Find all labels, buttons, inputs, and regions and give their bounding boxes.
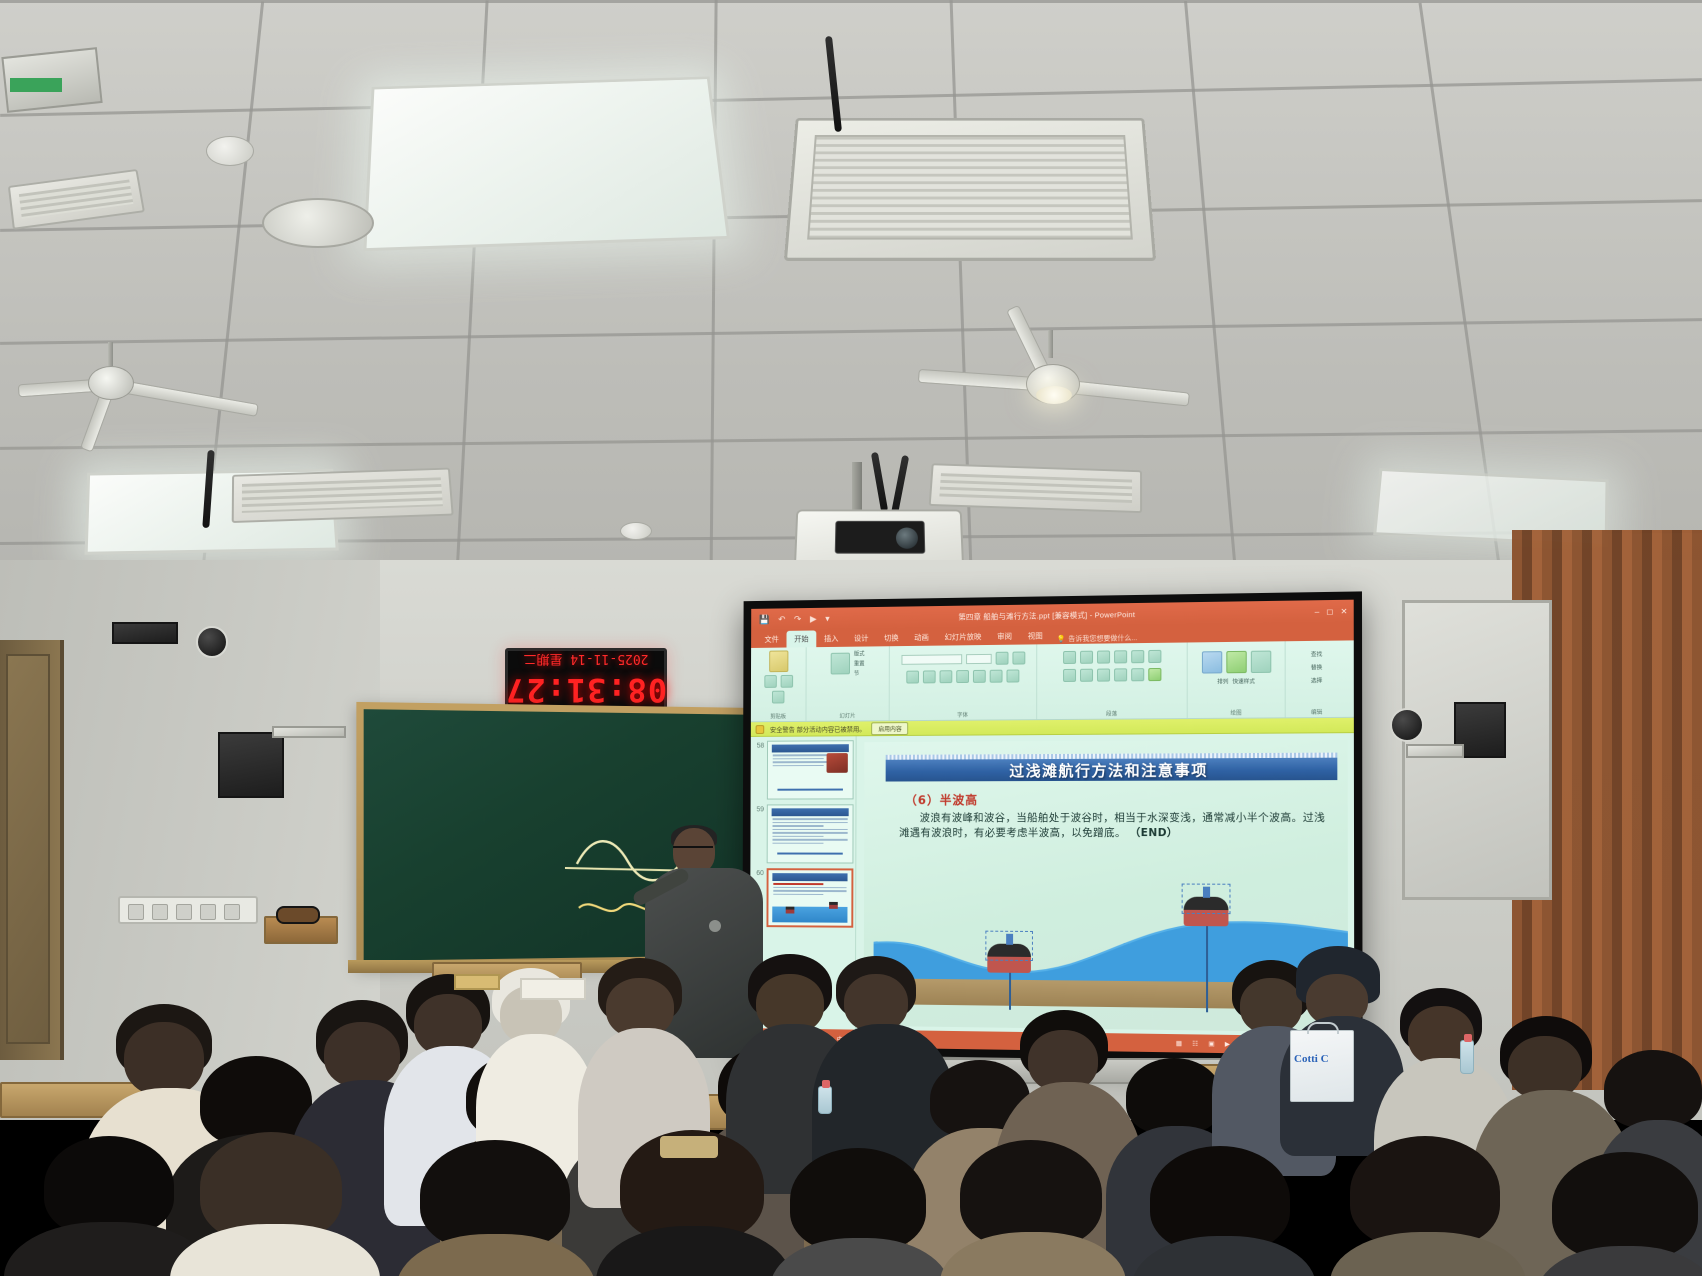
line-spacing-icon[interactable]	[1131, 650, 1144, 663]
align-left-icon[interactable]	[1063, 669, 1076, 682]
paper-on-desk	[520, 978, 586, 1000]
ribbon-group-slides[interactable]: 版式 重置 节 幻灯片	[806, 646, 889, 721]
underline-icon[interactable]	[940, 670, 953, 683]
tab-review[interactable]: 审阅	[989, 628, 1020, 645]
minimize-icon[interactable]: –	[1315, 607, 1320, 616]
speaker-bracket-left	[272, 726, 346, 738]
depth-line-crest	[1206, 921, 1208, 1012]
slide-body-sentence: 波浪有波峰和波谷，当船舶处于波谷时，相当于水深变浅，通常减小半个波高。过浅滩遇有…	[899, 812, 1325, 840]
arrange-label[interactable]: 排列	[1217, 677, 1228, 685]
group-label-editing: 编辑	[1286, 708, 1348, 717]
fan-light	[1036, 386, 1072, 404]
layout-label[interactable]: 版式	[854, 649, 865, 657]
restore-icon[interactable]: ◻	[1326, 607, 1333, 616]
bag-label: Cotti C	[1294, 1053, 1329, 1065]
thumbnail-wave-graphic	[772, 907, 847, 923]
tab-animations[interactable]: 动画	[906, 629, 936, 646]
group-label-clipboard: 剪贴板	[751, 712, 806, 720]
lightbulb-icon: 💡	[1057, 635, 1066, 643]
close-icon[interactable]: ✕	[1341, 606, 1348, 615]
font-name-box[interactable]	[901, 654, 962, 665]
copy-icon[interactable]	[780, 675, 793, 688]
title-hatch-decor	[886, 753, 1338, 760]
ceiling-device-label	[10, 78, 62, 92]
justify-icon[interactable]	[1114, 668, 1127, 681]
tab-file[interactable]: 文件	[757, 631, 787, 648]
speaker-bracket-right	[1406, 744, 1464, 758]
projector-lens	[896, 528, 918, 549]
ribbon-group-paragraph[interactable]: 段落	[1037, 642, 1188, 719]
bag-handle	[1307, 1022, 1339, 1034]
wall-speaker-left	[218, 732, 284, 798]
tab-home[interactable]: 开始	[786, 630, 816, 647]
tab-transitions[interactable]: 切换	[876, 629, 906, 646]
ac-vent-right	[929, 463, 1142, 513]
door-frame[interactable]	[0, 640, 64, 1060]
ceiling-camera-right	[1390, 708, 1424, 742]
door-panel[interactable]	[6, 654, 50, 1044]
ceiling-fan-right	[900, 340, 1180, 450]
group-label-paragraph: 段落	[1037, 709, 1187, 718]
format-painter-icon[interactable]	[772, 691, 784, 704]
slide-end-marker: （END）	[1130, 827, 1178, 839]
slide-thumbnail-59[interactable]	[767, 804, 854, 863]
bold-icon[interactable]	[906, 671, 919, 684]
chalk-eraser	[276, 906, 320, 924]
book-on-desk	[454, 974, 500, 990]
slide-body-text: 波浪有波峰和波谷，当船舶处于波谷时，相当于水深变浅，通常减小半个波高。过浅滩遇有…	[899, 811, 1333, 842]
cut-icon[interactable]	[764, 675, 776, 688]
tab-slideshow[interactable]: 幻灯片放映	[937, 628, 990, 646]
depth-line-trough	[1009, 968, 1011, 1010]
convert-smartart-icon[interactable]	[1148, 668, 1161, 681]
ship-on-crest	[1184, 897, 1229, 927]
ribbon-group-editing[interactable]: 查找 替换 选择 编辑	[1286, 640, 1348, 717]
document-title: 第四章 船舶与滩行方法.ppt [兼容模式] - PowerPoint	[751, 605, 1354, 625]
wall-socket-strip[interactable]	[118, 896, 258, 924]
slide-subtitle: （6）半波高	[905, 791, 978, 808]
ship-in-trough	[987, 944, 1031, 973]
group-label-font: 字体	[890, 710, 1037, 719]
section-label[interactable]: 节	[854, 669, 865, 677]
teacher-glasses	[673, 846, 713, 853]
ac-vent-left	[232, 468, 454, 523]
ceiling-camera-left	[196, 626, 228, 658]
security-warning-text: 安全警告 部分活动内容已被禁用。	[770, 723, 866, 733]
window-buttons[interactable]: – ◻ ✕	[1315, 606, 1348, 616]
teacher-jacket-detail	[709, 920, 721, 932]
text-direction-icon[interactable]	[1148, 650, 1161, 663]
paste-icon[interactable]	[769, 650, 788, 672]
ceiling-speaker-1	[262, 198, 374, 248]
reading-view-icon[interactable]: ▣	[1208, 1040, 1214, 1048]
classroom-scene: 08:31:27 2025-11-14 星期二 💾 ↶ ↷ ▶ ▾	[0, 0, 1702, 1276]
smoke-detector-1	[206, 136, 254, 166]
change-case-icon[interactable]	[1006, 669, 1019, 682]
tab-design[interactable]: 设计	[846, 630, 876, 647]
ceiling	[0, 0, 1702, 620]
clock-date: 2025-11-14 星期二	[523, 652, 648, 671]
reset-label[interactable]: 重置	[854, 659, 865, 667]
columns-icon[interactable]	[1131, 668, 1144, 681]
italic-icon[interactable]	[923, 670, 936, 683]
slide-thumbnail-60[interactable]	[766, 868, 853, 928]
replace-label[interactable]: 替换	[1311, 663, 1322, 671]
select-label[interactable]: 选择	[1311, 676, 1322, 684]
increase-indent-icon[interactable]	[1114, 650, 1127, 663]
find-label[interactable]: 查找	[1311, 650, 1322, 658]
ceiling-fan-left	[30, 350, 260, 440]
clock-time: 08:31:27	[505, 675, 667, 707]
ceiling-light-panel-1	[363, 76, 730, 251]
ribbon-group-drawing[interactable]: 排列 快速样式 绘图	[1188, 641, 1286, 718]
shopping-bag: Cotti C	[1290, 1030, 1354, 1102]
shapes-icon[interactable]	[1201, 651, 1221, 673]
water-bottle	[1460, 1040, 1474, 1074]
thumbnail-row[interactable]: 60	[752, 868, 853, 928]
ribbon-group-clipboard[interactable]: 剪贴板	[751, 647, 807, 721]
arrange-icon[interactable]	[1226, 651, 1246, 673]
thumbnail-image	[827, 753, 848, 773]
ribbon-group-font[interactable]: 字体	[890, 644, 1038, 720]
thumbnail-row[interactable]: 58	[753, 740, 854, 799]
ribbon[interactable]: 剪贴板 版式 重置 节 幻灯片	[751, 640, 1354, 722]
water-bottle	[818, 1086, 832, 1114]
quick-style-label[interactable]: 快速样式	[1232, 677, 1254, 685]
warning-icon	[756, 725, 765, 734]
increase-font-icon[interactable]	[995, 652, 1008, 665]
tab-view[interactable]: 视图	[1020, 627, 1051, 644]
thumbnail-row[interactable]: 59	[752, 804, 853, 863]
align-center-icon[interactable]	[1080, 669, 1093, 682]
slide-thumbnail-58[interactable]	[767, 740, 854, 799]
enable-content-button[interactable]: 启用内容	[871, 722, 908, 735]
smoke-detector-2	[620, 522, 652, 540]
projector-mount	[852, 462, 862, 514]
new-slide-icon[interactable]	[831, 653, 850, 675]
group-label-slides: 幻灯片	[806, 711, 888, 720]
hair-clip	[660, 1136, 718, 1158]
decrease-font-icon[interactable]	[1012, 651, 1025, 664]
font-size-box[interactable]	[966, 653, 992, 663]
quick-styles-icon[interactable]	[1250, 651, 1270, 673]
led-wall-clock: 08:31:27 2025-11-14 星期二	[505, 648, 667, 710]
decrease-indent-icon[interactable]	[1097, 650, 1110, 663]
shadow-icon[interactable]	[973, 670, 986, 683]
strikethrough-icon[interactable]	[956, 670, 969, 683]
group-label-drawing: 绘图	[1188, 708, 1285, 717]
thumbnail-number: 58	[753, 741, 764, 750]
ac-vent-large	[784, 118, 1156, 261]
normal-view-icon[interactable]: ▦	[1176, 1039, 1182, 1047]
slide-title: 过浅滩航行方法和注意事项	[1009, 759, 1208, 781]
tab-insert[interactable]: 插入	[816, 630, 846, 647]
sorter-view-icon[interactable]: ☷	[1192, 1039, 1198, 1047]
character-spacing-icon[interactable]	[990, 670, 1003, 683]
thumbnail-number: 59	[752, 804, 764, 813]
numbering-icon[interactable]	[1080, 651, 1093, 664]
bullets-icon[interactable]	[1063, 651, 1076, 664]
align-right-icon[interactable]	[1097, 669, 1110, 682]
slide-title-banner[interactable]: 过浅滩航行方法和注意事项	[886, 754, 1338, 782]
camera-bracket-left	[112, 622, 178, 644]
